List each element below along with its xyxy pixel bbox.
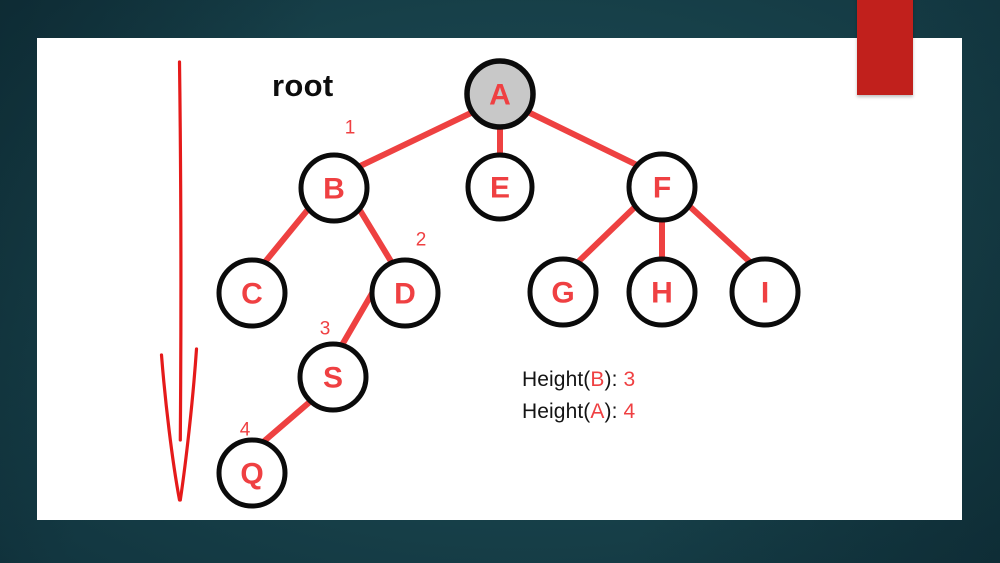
node-label-f: F — [653, 172, 671, 205]
edge-label-3: 3 — [320, 319, 331, 340]
tree-node-e[interactable]: E — [468, 155, 532, 219]
height-a-middle: ): — [605, 400, 624, 423]
tree-node-b[interactable]: B — [301, 155, 367, 221]
tree-edge-f-i — [686, 203, 750, 262]
tree-node-g[interactable]: G — [530, 259, 596, 325]
tree-node-h[interactable]: H — [629, 259, 695, 325]
tree-edge-b-d — [358, 207, 392, 263]
edge-label-2: 2 — [416, 230, 427, 251]
node-label-a: A — [489, 79, 511, 112]
tree-node-f[interactable]: F — [629, 154, 695, 220]
tree-node-s[interactable]: S — [300, 344, 366, 410]
node-label-i: I — [761, 277, 769, 310]
tree-node-c[interactable]: C — [219, 260, 285, 326]
node-label-h: H — [651, 277, 673, 310]
height-line-b: Height(B): 3 — [522, 364, 635, 396]
edge-label-4: 4 — [240, 420, 251, 441]
height-a-prefix: Height( — [522, 400, 590, 423]
height-a-value: 4 — [623, 400, 635, 423]
tree-edge-a-b — [356, 112, 473, 168]
node-label-q: Q — [240, 458, 263, 491]
node-label-b: B — [323, 173, 345, 206]
tree-edge-f-g — [578, 203, 639, 262]
binary-tree-diagram: ABEFCDGHISQ 1234 — [0, 0, 1000, 563]
slide-canvas: root ABEFCDGHISQ 1234 Height(B): 3 Heigh… — [0, 0, 1000, 563]
height-a-node: A — [590, 400, 604, 423]
tree-nodes: ABEFCDGHISQ — [219, 61, 798, 506]
tree-node-i[interactable]: I — [732, 259, 798, 325]
height-b-prefix: Height( — [522, 368, 590, 391]
edge-label-1: 1 — [345, 118, 356, 139]
height-annotations: Height(B): 3 Height(A): 4 — [522, 364, 635, 428]
tree-node-a[interactable]: A — [467, 61, 533, 127]
node-label-s: S — [323, 362, 343, 395]
height-line-a: Height(A): 4 — [522, 396, 635, 428]
height-b-value: 3 — [623, 368, 635, 391]
node-label-e: E — [490, 172, 510, 205]
root-text-label: root — [272, 68, 333, 104]
hand-drawn-down-arrow — [162, 62, 197, 500]
tree-edge-b-c — [265, 207, 310, 262]
height-b-node: B — [590, 368, 604, 391]
tree-edge-s-q — [262, 400, 312, 443]
tree-node-q[interactable]: Q — [219, 440, 285, 506]
node-label-c: C — [241, 278, 263, 311]
node-label-g: G — [551, 277, 574, 310]
tree-edge-a-f — [528, 112, 641, 167]
tree-node-d[interactable]: D — [372, 260, 438, 326]
height-b-middle: ): — [605, 368, 624, 391]
node-label-d: D — [394, 278, 416, 311]
